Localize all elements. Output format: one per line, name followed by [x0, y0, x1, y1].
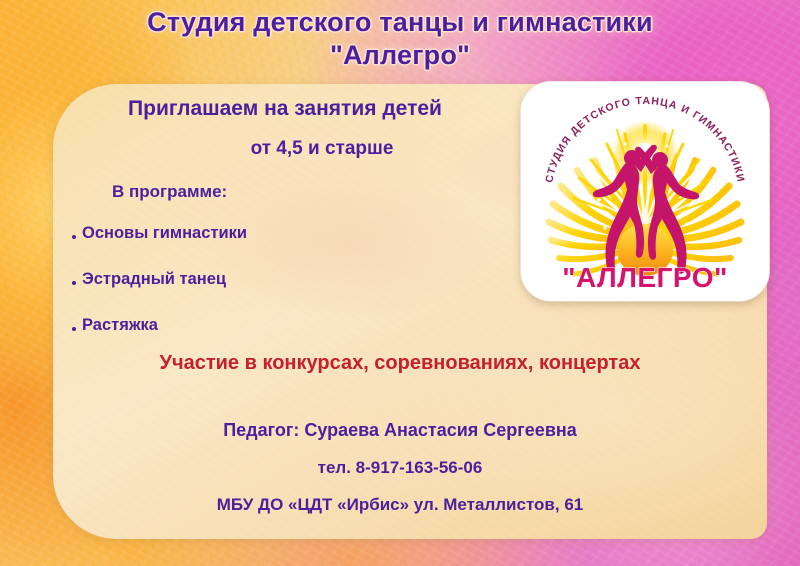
- list-item: Основы гимнастики: [70, 224, 500, 243]
- phone-number: тел. 8-917-163-56-06: [0, 458, 800, 478]
- title-line-2: "Аллегро": [0, 39, 800, 72]
- invitation-headline: Приглашаем на занятия детей: [70, 97, 500, 120]
- list-item: Эстрадный танец: [70, 270, 500, 289]
- studio-logo-card: СТУДИЯ ДЕТСКОГО ТАНЦА И ГИМНАСТИКИ "АЛЛЕ…: [521, 82, 769, 301]
- invitation-block: Приглашаем на занятия детей от 4,5 и ста…: [70, 97, 500, 362]
- list-item: Растяжка: [70, 316, 500, 335]
- logo-wordmark: "АЛЛЕГРО": [562, 262, 728, 293]
- address-line: МБУ ДО «ЦДТ «Ирбис» ул. Металлистов, 61: [0, 495, 800, 515]
- program-heading: В программе:: [70, 182, 500, 202]
- poster-title: Студия детского танцы и гимнастики "Алле…: [0, 6, 800, 72]
- invitation-age-line: от 4,5 и старше: [70, 138, 500, 160]
- poster-canvas: Студия детского танцы и гимнастики "Алле…: [0, 0, 800, 566]
- program-list: Основы гимнастики Эстрадный танец Растяж…: [70, 224, 500, 335]
- contact-block: Педагог: Сураева Анастасия Сергеевна тел…: [0, 420, 800, 515]
- allegro-emblem-icon: СТУДИЯ ДЕТСКОГО ТАНЦА И ГИМНАСТИКИ "АЛЛЕ…: [521, 82, 769, 301]
- teacher-name: Педагог: Сураева Анастасия Сергеевна: [0, 420, 800, 441]
- participation-line: Участие в конкурсах, соревнованиях, конц…: [0, 352, 800, 375]
- title-line-1: Студия детского танцы и гимнастики: [0, 6, 800, 39]
